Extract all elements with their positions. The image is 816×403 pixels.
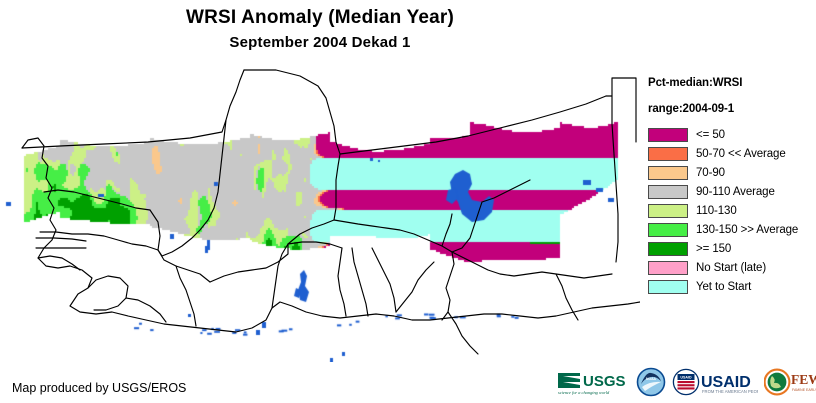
border-path (452, 252, 612, 278)
legend-row: <= 50 (648, 126, 816, 144)
border-path (88, 276, 128, 310)
legend-swatch (648, 204, 688, 218)
border-path (22, 138, 640, 332)
partner-logos: USGS science for a changing world NOAA U… (556, 364, 814, 400)
border-path (338, 248, 346, 316)
legend-label: 110-130 (696, 204, 737, 218)
country-border-lines (22, 70, 640, 354)
credit-text: Map produced by USGS/EROS (12, 380, 186, 396)
border-path (334, 154, 340, 220)
usaid-logo[interactable]: USAID USAID FROM THE AMERICAN PEOPLE (672, 366, 758, 398)
legend-swatch (648, 242, 688, 256)
legend-row: 90-110 Average (648, 183, 816, 201)
legend-swatch (648, 166, 688, 180)
border-path (288, 242, 342, 248)
legend-swatch (648, 147, 688, 161)
border-path (442, 252, 454, 320)
svg-text:FROM THE AMERICAN PEOPLE: FROM THE AMERICAN PEOPLE (702, 389, 758, 394)
legend-label: <= 50 (696, 128, 725, 142)
border-path (44, 190, 150, 210)
svg-text:USAID: USAID (680, 376, 692, 380)
border-path (126, 298, 166, 322)
border-path (606, 78, 636, 142)
legend-swatch (648, 185, 688, 199)
border-path (150, 210, 210, 282)
legend-items: <= 5050-70 << Average70-9090-110 Average… (648, 126, 816, 296)
legend-header-pct-median: Pct-median:WRSI (648, 76, 816, 91)
border-path (36, 238, 86, 248)
legend-row: 110-130 (648, 202, 816, 220)
legend-header-range: range:2004-09-1 (648, 102, 816, 117)
svg-text:science for a changing world: science for a changing world (558, 390, 610, 395)
legend-label: Yet to Start (696, 280, 751, 294)
page-subtitle: September 2004 Dekad 1 (0, 32, 640, 53)
map-area[interactable] (0, 62, 640, 362)
page-title: WRSI Anomaly (Median Year) (0, 6, 640, 30)
border-path (452, 202, 482, 252)
svg-text:NOAA: NOAA (646, 377, 657, 381)
legend-label: 130-150 >> Average (696, 223, 798, 237)
border-path (612, 96, 618, 262)
svg-text:USGS: USGS (583, 373, 626, 390)
border-path (372, 248, 396, 312)
svg-text:FAMINE EARLY WARNING SYSTEMS N: FAMINE EARLY WARNING SYSTEMS NETWORK (792, 388, 816, 392)
border-path (334, 220, 452, 252)
title-block: WRSI Anomaly (Median Year) September 200… (0, 6, 640, 53)
border-path (176, 266, 196, 326)
border-path (482, 180, 530, 202)
border-path (244, 70, 340, 154)
legend-label: 70-90 (696, 166, 725, 180)
fewsnet-logo[interactable]: FEWS NET FAMINE EARLY WARNING SYSTEMS NE… (764, 366, 816, 398)
noaa-logo[interactable]: NOAA (636, 366, 666, 398)
legend-label: 90-110 Average (696, 185, 775, 199)
legend-row: 130-150 >> Average (648, 221, 816, 239)
legend-row: Yet to Start (648, 278, 816, 296)
legend-row: No Start (late) (648, 259, 816, 277)
legend-swatch (648, 280, 688, 294)
legend-label: 50-70 << Average (696, 147, 786, 161)
border-path (40, 232, 158, 250)
border-path (396, 262, 434, 312)
map-legend: Pct-median:WRSI range:2004-09-1 <= 5050-… (648, 76, 816, 297)
map-page: WRSI Anomaly (Median Year) September 200… (0, 0, 816, 403)
legend-swatch (648, 223, 688, 237)
legend-swatch (648, 261, 688, 275)
border-path (448, 312, 478, 354)
border-path (22, 70, 244, 148)
legend-row: 70-90 (648, 164, 816, 182)
legend-row: 50-70 << Average (648, 145, 816, 163)
legend-row: >= 150 (648, 240, 816, 258)
border-path (288, 220, 334, 244)
usgs-logo[interactable]: USGS science for a changing world (556, 366, 630, 398)
border-path (352, 248, 368, 316)
border-path (340, 96, 606, 154)
legend-label: >= 150 (696, 242, 731, 256)
legend-label: No Start (late) (696, 261, 766, 275)
border-path (442, 214, 452, 246)
legend-swatch (648, 128, 688, 142)
svg-text:FEWS NET: FEWS NET (791, 372, 816, 387)
country-boundaries-overlay (0, 62, 640, 362)
border-path (272, 244, 288, 308)
